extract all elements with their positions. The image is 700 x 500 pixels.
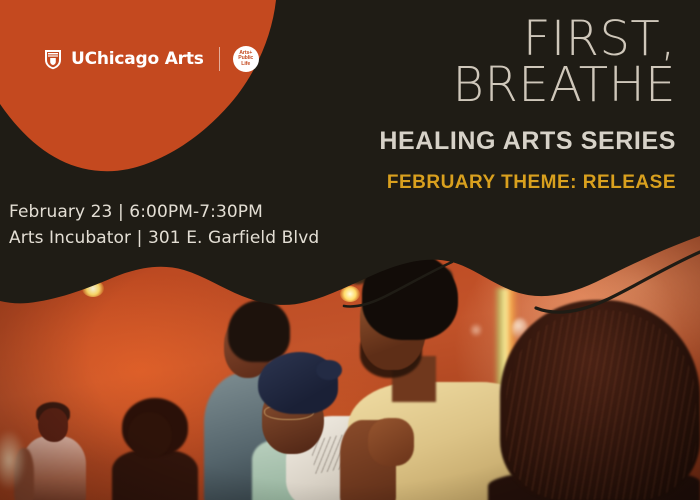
event-poster: UChicago Arts Arts+ Public Life FIRST, B… (0, 0, 700, 500)
badge-line-3: Life (241, 62, 250, 67)
event-datetime: February 23 | 6:00PM-7:30PM (9, 200, 319, 226)
uchicago-shield-icon (44, 49, 62, 70)
logo-divider (219, 47, 220, 71)
page-title: FIRST, BREATHE (453, 16, 676, 108)
uchicago-arts-wordmark: UChicago Arts (71, 49, 204, 69)
event-details: February 23 | 6:00PM-7:30PM Arts Incubat… (9, 200, 319, 251)
series-label: HEALING ARTS SERIES (379, 127, 676, 156)
logo-lockup[interactable]: UChicago Arts Arts+ Public Life (44, 46, 259, 72)
title-line-2: BREATHE (453, 62, 676, 108)
arts-public-life-badge[interactable]: Arts+ Public Life (233, 46, 259, 72)
event-venue: Arts Incubator | 301 E. Garfield Blvd (9, 226, 319, 252)
theme-label: FEBRUARY THEME: RELEASE (387, 172, 676, 194)
